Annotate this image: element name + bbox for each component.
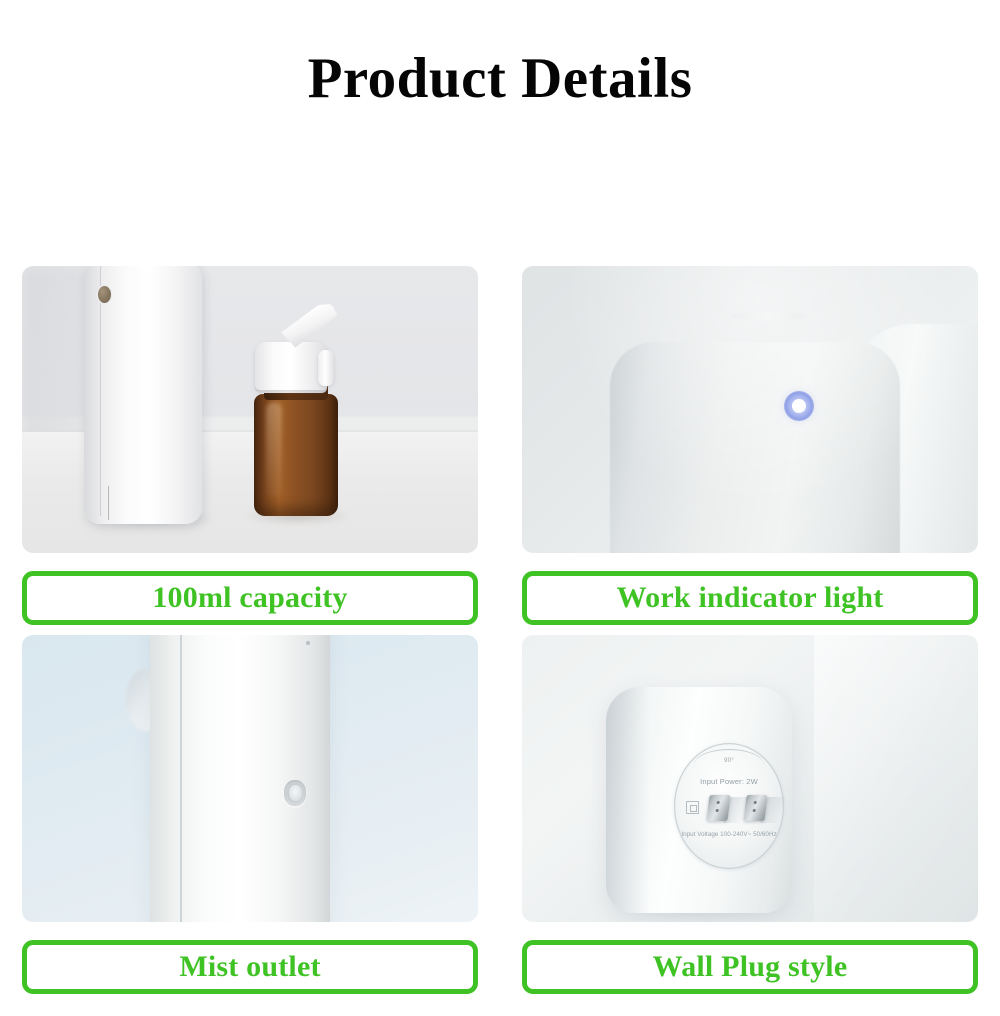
product-details-page: Product Details xyxy=(0,0,1000,1016)
label-box-indicator: Work indicator light xyxy=(522,571,978,625)
plug-input-power-text: Input Power: 2W xyxy=(674,777,784,786)
product-detail-grid: 100ml capacity Work indicator light xyxy=(22,266,978,994)
label-text-indicator: Work indicator light xyxy=(617,583,884,613)
detail-card-indicator: Work indicator light xyxy=(522,266,978,625)
label-text-mist-outlet: Mist outlet xyxy=(179,952,320,982)
column-seam xyxy=(180,635,182,922)
photo-work-indicator-light xyxy=(522,266,978,553)
detail-card-capacity: 100ml capacity xyxy=(22,266,478,625)
plug-angle-text: 90° xyxy=(714,758,744,764)
mist-nozzle-hole xyxy=(289,785,302,801)
bottle-cap xyxy=(255,342,327,390)
top-dot xyxy=(306,641,310,645)
body-seam xyxy=(100,266,101,516)
class-ii-icon xyxy=(686,801,699,814)
label-box-capacity: 100ml capacity xyxy=(22,571,478,625)
label-box-mist-outlet: Mist outlet xyxy=(22,940,478,994)
label-box-wall-plug: Wall Plug style xyxy=(522,940,978,994)
photo-100ml-capacity xyxy=(22,266,478,553)
photo-wall-plug-style: 90° Input Power: 2W Input Voltage 100-24… xyxy=(522,635,978,922)
detail-card-mist-outlet: Mist outlet xyxy=(22,635,478,994)
amber-oil-bottle xyxy=(254,394,338,516)
background-glare xyxy=(814,635,978,922)
detail-card-wall-plug: 90° Input Power: 2W Input Voltage 100-24… xyxy=(522,635,978,994)
page-title: Product Details xyxy=(0,48,1000,111)
plug-input-voltage-text: Input Voltage 100-240V~ 50/60Hz xyxy=(669,831,790,838)
prong-right xyxy=(743,795,767,821)
label-text-wall-plug: Wall Plug style xyxy=(653,952,848,982)
label-text-capacity: 100ml capacity xyxy=(152,583,347,613)
prong-left xyxy=(706,795,730,821)
device-column xyxy=(150,635,330,922)
housing-glare xyxy=(522,266,978,553)
body-seam-lower xyxy=(108,486,109,520)
blue-led-icon xyxy=(792,399,806,413)
cap-tab xyxy=(318,350,334,386)
bottle-gloss xyxy=(266,402,282,498)
sensor-dot-icon xyxy=(98,286,111,303)
device-side-shading xyxy=(606,687,650,913)
photo-mist-outlet xyxy=(22,635,478,922)
diffuser-body xyxy=(84,266,202,524)
